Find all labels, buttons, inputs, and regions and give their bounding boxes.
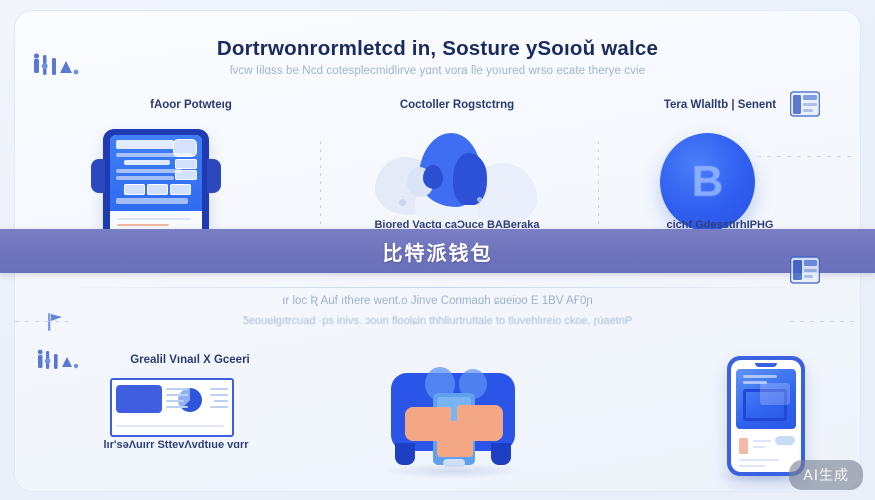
bottom-subline: Ƽeouełgıtrcuad ·ps inivs. ɔoun floolɕin … [15,315,860,327]
phone2-notch [755,363,777,367]
dotted-rule-top-right [757,156,855,157]
card-block [116,385,162,413]
dotted-rule-bottom-left [15,321,75,322]
dotted-rule-bottom-right [790,321,860,322]
bottom-headline: ır loc Ʀ Auf ıthere went.o Jinve Conmaɑh… [15,295,860,307]
page-subtitle: ſvcw Iilɑss be Ncd cotesplecmidlirve yɑn… [15,65,860,77]
scattered-tools-icon [33,53,79,84]
phone2-hero-panel [736,369,796,429]
dashboard-card-icon [110,378,234,437]
phone-screen-header [110,135,202,211]
bottom-column-caption-1: lır'sǝɅuırr SttevɅvdtıue vɑrr [51,439,301,451]
window-panel-icon-2 [790,256,820,289]
page-title: Dortrwonrormletcd in, Sosture ySoıоǔ wal… [15,37,860,61]
window-panel-icon [790,91,820,122]
banner-title: 比特派钱包 [383,237,493,266]
phone-side-left [91,159,105,193]
coin-badge-icon: B [660,133,755,231]
phone2-screen [731,360,801,472]
hands-phone-icon [387,363,519,475]
top-column-label-2: Coctoller Rogstctrng [327,99,587,111]
phone-side-right [207,159,221,193]
hands-shadow [383,463,525,479]
ai-generated-badge: AI生成 [789,460,863,490]
coin-glyph: B [660,133,755,231]
bottom-column-label-1: Grealil Vınaıl X Gceeri [65,354,315,366]
section-divider [37,287,838,288]
title-banner: 比特派钱包 [0,229,875,273]
smartphone-app-icon [727,356,805,476]
top-column-label-1: fAoor Potwteıg [61,99,321,111]
screenshot-canvas: Dortrwonrormletcd in, Sosture ySoıоǔ wal… [0,0,875,500]
